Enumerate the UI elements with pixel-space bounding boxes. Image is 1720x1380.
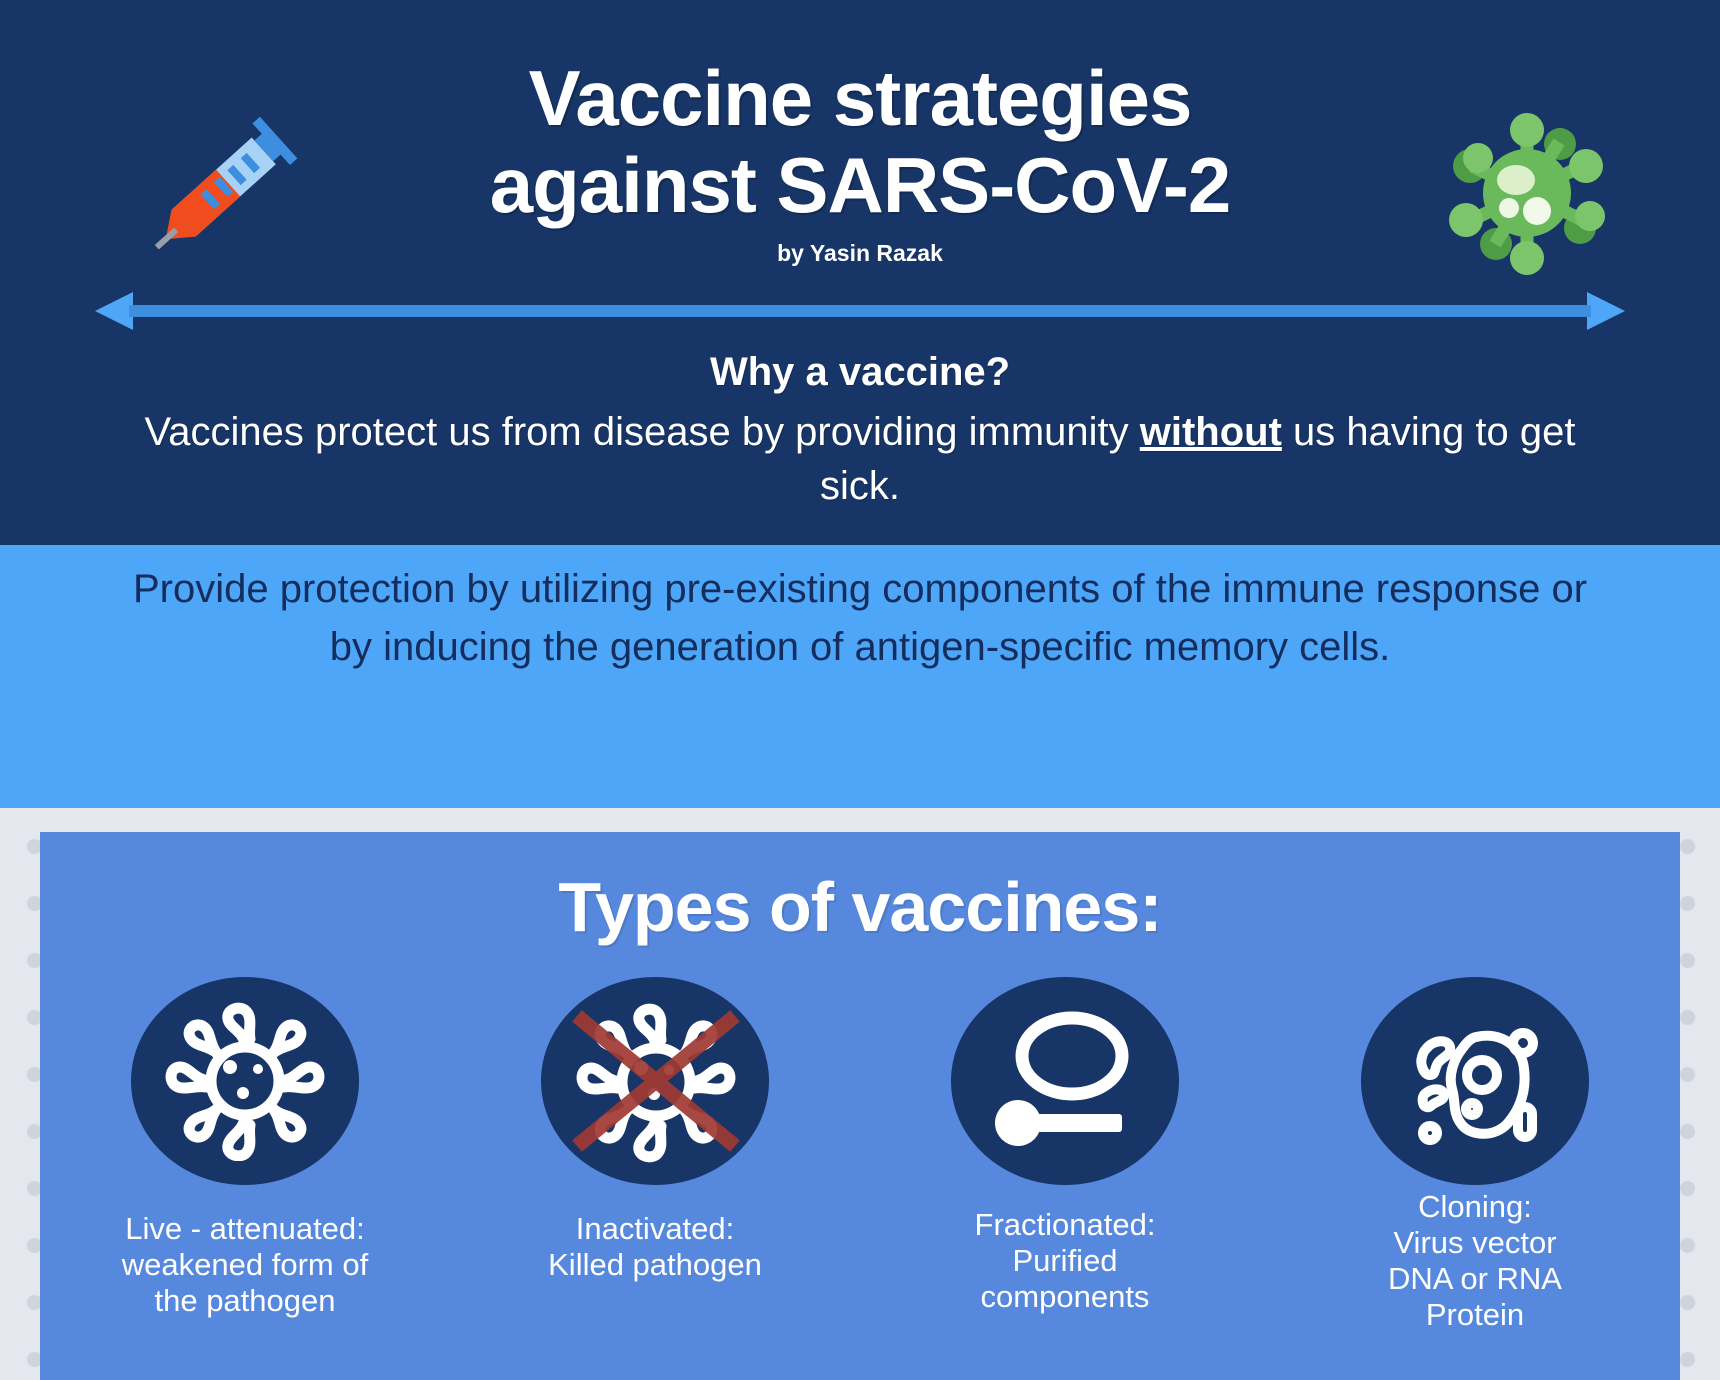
immunity-band-text: Provide protection by utilizing pre-exis…: [130, 560, 1590, 676]
protein-subunit-icon: [980, 1001, 1150, 1161]
why-body-pre: Vaccines protect us from disease by prov…: [145, 410, 1140, 454]
card-label-line: Killed pathogen: [505, 1247, 805, 1283]
why-body-emphasis: without: [1140, 410, 1282, 454]
card-label-line: Protein: [1325, 1297, 1625, 1333]
vaccine-type-card-inactivated[interactable]: Inactivated: Killed pathogen: [450, 977, 860, 1357]
card-label-line: weakened form of: [95, 1247, 395, 1283]
types-of-vaccines-panel: Types of vaccines:: [40, 832, 1680, 1380]
header-section: Vaccine strategies against SARS-CoV-2 by…: [0, 0, 1720, 545]
card-label-line: Live - attenuated:: [95, 1211, 395, 1247]
card-label-line: DNA or RNA: [1325, 1261, 1625, 1297]
badge-cloning: [1361, 977, 1589, 1185]
card-label-inactivated: Inactivated: Killed pathogen: [505, 1211, 805, 1283]
card-label-line: the pathogen: [95, 1283, 395, 1319]
types-of-vaccines-heading: Types of vaccines:: [40, 867, 1680, 947]
vaccine-type-card-fractionated[interactable]: Fractionated: Purified components: [860, 977, 1270, 1357]
card-label-line: Cloning:: [1325, 1189, 1625, 1225]
card-label-cloning: Cloning: Virus vector DNA or RNA Protein: [1325, 1189, 1625, 1333]
why-vaccine-heading: Why a vaccine?: [0, 350, 1720, 395]
double-arrow-divider: [95, 290, 1625, 332]
coronavirus-icon: [1440, 108, 1615, 278]
virus-icon: [160, 1001, 330, 1161]
card-label-line: Virus vector: [1325, 1225, 1625, 1261]
card-label-live-attenuated: Live - attenuated: weakened form of the …: [95, 1211, 395, 1319]
badge-inactivated: [541, 977, 769, 1185]
immunity-band-section: Provide protection by utilizing pre-exis…: [0, 545, 1720, 808]
infographic-page: Vaccine strategies against SARS-CoV-2 by…: [0, 0, 1720, 1380]
syringe-icon: [128, 104, 313, 274]
card-label-line: Purified: [915, 1243, 1215, 1279]
cell-with-organelles-icon: [1390, 1001, 1560, 1161]
card-label-line: Inactivated:: [505, 1211, 805, 1247]
badge-fractionated: [951, 977, 1179, 1185]
vaccine-type-card-live-attenuated[interactable]: Live - attenuated: weakened form of the …: [40, 977, 450, 1357]
why-vaccine-block: Why a vaccine? Vaccines protect us from …: [0, 350, 1720, 513]
card-label-fractionated: Fractionated: Purified components: [915, 1207, 1215, 1315]
why-vaccine-body: Vaccines protect us from disease by prov…: [120, 405, 1600, 513]
vaccine-type-cards: Live - attenuated: weakened form of the …: [40, 977, 1680, 1357]
badge-live-attenuated: [131, 977, 359, 1185]
vaccine-type-card-cloning[interactable]: Cloning: Virus vector DNA or RNA Protein: [1270, 977, 1680, 1357]
card-label-line: components: [915, 1279, 1215, 1315]
hero-area: Vaccine strategies against SARS-CoV-2 by…: [0, 0, 1720, 305]
card-label-line: Fractionated:: [915, 1207, 1215, 1243]
virus-crossed-out-icon: [563, 994, 748, 1169]
